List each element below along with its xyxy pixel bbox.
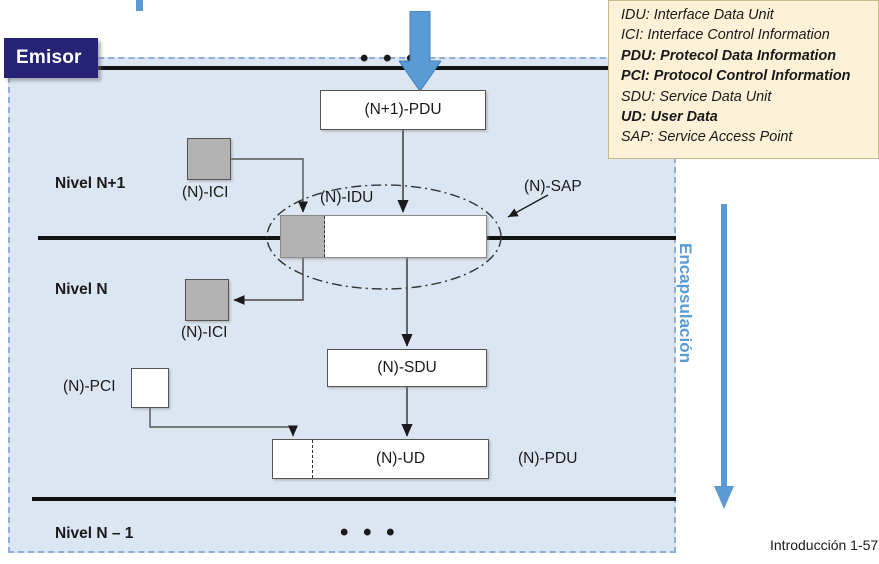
idu-ici-segment [281,216,325,257]
level-label-n: Nivel N [55,281,108,299]
caption-sap: (N)-SAP [524,178,582,196]
legend-item: PCI: Protocol Control Information [621,66,872,86]
legend-item: SDU: Service Data Unit [621,87,872,107]
legend-item: IDU: Interface Data Unit [621,5,872,25]
encapsulation-arrow-icon [713,204,735,509]
emisor-badge-label: Emisor [16,47,82,69]
idu-composite-bar [280,215,487,258]
ud-data-segment: (N)-UD [313,440,488,478]
glossary-legend: IDU: Interface Data Unit ICI: Interface … [608,0,879,159]
caption-pdu: (N)-PDU [518,450,577,468]
legend-item: SAP: Service Access Point [621,127,872,147]
ici-block-lower [185,279,229,321]
legend-item: UD: User Data [621,107,872,127]
blue-sliver-decoration [136,0,143,11]
caption-ici-upper: (N)-ICI [182,184,229,202]
legend-item: PDU: Protecol Data Information [621,46,872,66]
emisor-badge: Emisor [4,38,98,78]
ud-composite-bar: (N)-UD [272,439,489,479]
level-label-n-minus-1: Nivel N – 1 [55,525,133,543]
caption-ici-lower: (N)-ICI [181,324,228,342]
layer-line-top [10,66,676,70]
box-n-plus-1-pdu: (N+1)-PDU [320,90,486,130]
slide-canvas: Emisor • • • • • • Nivel N+1 Nivel N Niv… [0,0,879,564]
box-n-pci [131,368,169,408]
ud-pci-segment [273,440,313,478]
layer-line-bottom [32,497,676,501]
box-n-sdu: (N)-SDU [327,349,487,387]
slide-footer: Introducción 1-57 [770,537,878,553]
caption-idu: (N)-IDU [320,189,373,207]
ici-block-upper [187,138,231,180]
ellipsis-dots-bottom: • • • [340,521,399,545]
incoming-data-arrow-icon [399,11,441,91]
legend-item: ICI: Interface Control Information [621,25,872,45]
caption-pci: (N)-PCI [63,378,116,396]
level-label-n-plus-1: Nivel N+1 [55,175,125,193]
idu-sdu-segment [325,216,486,257]
encapsulation-label: Encapsulación [675,243,695,443]
